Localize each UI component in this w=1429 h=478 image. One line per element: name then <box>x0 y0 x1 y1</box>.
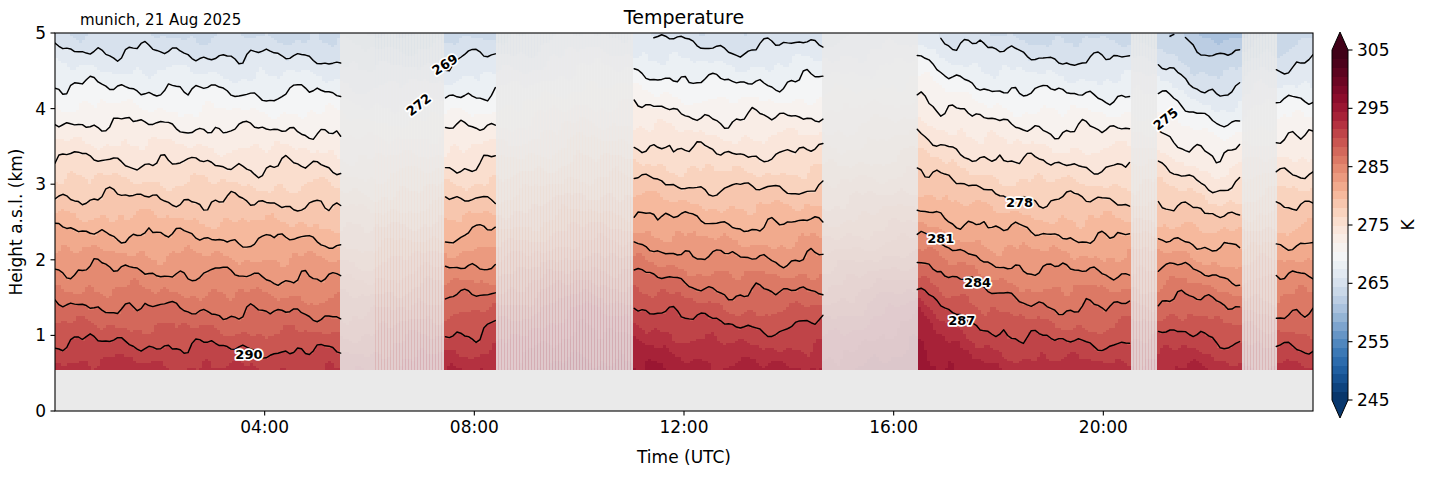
temperature-time-height-figure: 2692692722722902902782782812812842842872… <box>0 0 1429 478</box>
contour-label: 278278 <box>1006 195 1033 210</box>
contour-label: 287287 <box>948 313 975 328</box>
x-tick-label: 12:00 <box>660 417 709 437</box>
station-date-annotation: munich, 21 Aug 2025 <box>80 11 241 29</box>
x-tick-label: 20:00 <box>1079 417 1128 437</box>
x-tick-label: 16:00 <box>869 417 918 437</box>
colorbar-tick-label: 285 <box>1357 157 1389 177</box>
contour-label-text: 290 <box>235 347 262 362</box>
y-tick-label: 0 <box>35 401 46 421</box>
contour-label-text: 287 <box>948 313 975 328</box>
contour-label-text: 284 <box>964 275 991 290</box>
y-tick-label: 5 <box>35 23 46 43</box>
colorbar-tick-label: 305 <box>1357 40 1389 60</box>
contour-label: 284284 <box>964 275 991 290</box>
colorbar-tick-label: 245 <box>1357 390 1389 410</box>
contour-label: 290290 <box>235 347 262 362</box>
colorbar-label: K <box>1398 219 1418 231</box>
x-axis-label: Time (UTC) <box>636 447 731 467</box>
colorbar-tick-label: 265 <box>1357 273 1389 293</box>
colorbar-tick-label: 275 <box>1357 215 1389 235</box>
y-axis-label: Height a.s.l. (km) <box>6 149 26 296</box>
colorbar-tick-label: 255 <box>1357 332 1389 352</box>
plot-title: Temperature <box>623 6 744 28</box>
contour-label-text: 278 <box>1006 195 1033 210</box>
x-tick-label: 04:00 <box>240 417 289 437</box>
contour-label-text: 281 <box>927 231 954 246</box>
contour-label: 281281 <box>927 231 954 246</box>
x-tick-label: 08:00 <box>450 417 499 437</box>
y-tick-label: 2 <box>35 250 46 270</box>
y-tick-label: 3 <box>35 174 46 194</box>
temperature-field <box>55 33 1314 370</box>
colorbar-tick-label: 295 <box>1357 98 1389 118</box>
y-tick-label: 1 <box>35 325 46 345</box>
y-tick-label: 4 <box>35 99 46 119</box>
